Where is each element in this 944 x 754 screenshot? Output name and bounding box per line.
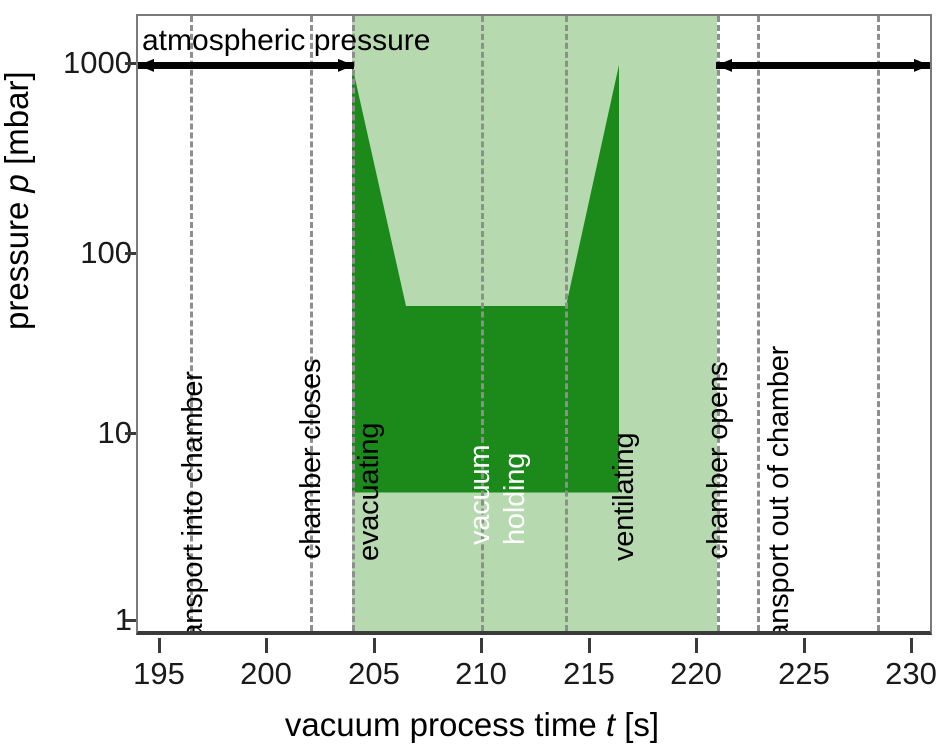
label-vacuum-holding-line1: vacuum — [464, 445, 497, 545]
y-tick-label-1000: 1000 — [63, 45, 132, 81]
y-tick-mark-100 — [125, 252, 136, 255]
arrow-right-mid-icon — [338, 59, 354, 72]
label-chamber-opens: chamber opens — [702, 362, 735, 559]
x-tick-mark-220 — [695, 638, 698, 653]
x-axis-title-variable: t — [606, 706, 615, 743]
x-tick-label-195: 195 — [133, 656, 185, 692]
x-axis-title-suffix: [s] — [615, 706, 659, 743]
x-axis-title-prefix: vacuum process time — [285, 706, 606, 743]
x-tick-label-215: 215 — [563, 656, 615, 692]
y-tick-mark-10 — [125, 432, 136, 435]
arrow-left-icon — [138, 59, 154, 72]
label-atmospheric-pressure: atmospheric pressure — [142, 24, 430, 58]
x-tick-label-220: 220 — [670, 656, 722, 692]
label-vacuum-holding-line2: holding — [499, 453, 532, 545]
x-tick-mark-225 — [803, 638, 806, 653]
label-transport-out-of-chamber: transport out of chamber — [763, 346, 796, 635]
x-tick-label-225: 225 — [778, 656, 830, 692]
label-evacuating: evacuating — [353, 423, 386, 561]
atmospheric-line-arrows — [138, 16, 930, 631]
arrow-left-mid-icon — [716, 59, 732, 72]
y-tick-mark-1000 — [125, 62, 136, 65]
x-tick-mark-200 — [265, 638, 268, 653]
label-chamber-closes: chamber closes — [295, 359, 328, 559]
x-tick-mark-215 — [588, 638, 591, 653]
x-tick-label-200: 200 — [240, 656, 292, 692]
label-ventilating: ventilating — [608, 433, 641, 561]
x-tick-mark-210 — [480, 638, 483, 653]
plot-area: atmospheric pressure transport into cham… — [136, 14, 932, 635]
x-tick-label-210: 210 — [455, 656, 507, 692]
arrow-right-icon — [914, 59, 930, 72]
x-tick-mark-205 — [373, 638, 376, 653]
x-tick-mark-195 — [158, 638, 161, 653]
x-tick-mark-230 — [910, 638, 913, 653]
vacuum-process-chart: pressure p [mbar] 1000 100 10 1 — [0, 0, 944, 754]
y-tick-mark-1 — [125, 619, 136, 622]
x-tick-label-230: 230 — [885, 656, 937, 692]
label-transport-into-chamber: transport into chamber — [177, 371, 210, 635]
x-axis-title: vacuum process time t [s] — [0, 706, 944, 744]
y-axis-ticks: 1000 100 10 1 — [0, 0, 132, 754]
x-tick-label-205: 205 — [348, 656, 400, 692]
